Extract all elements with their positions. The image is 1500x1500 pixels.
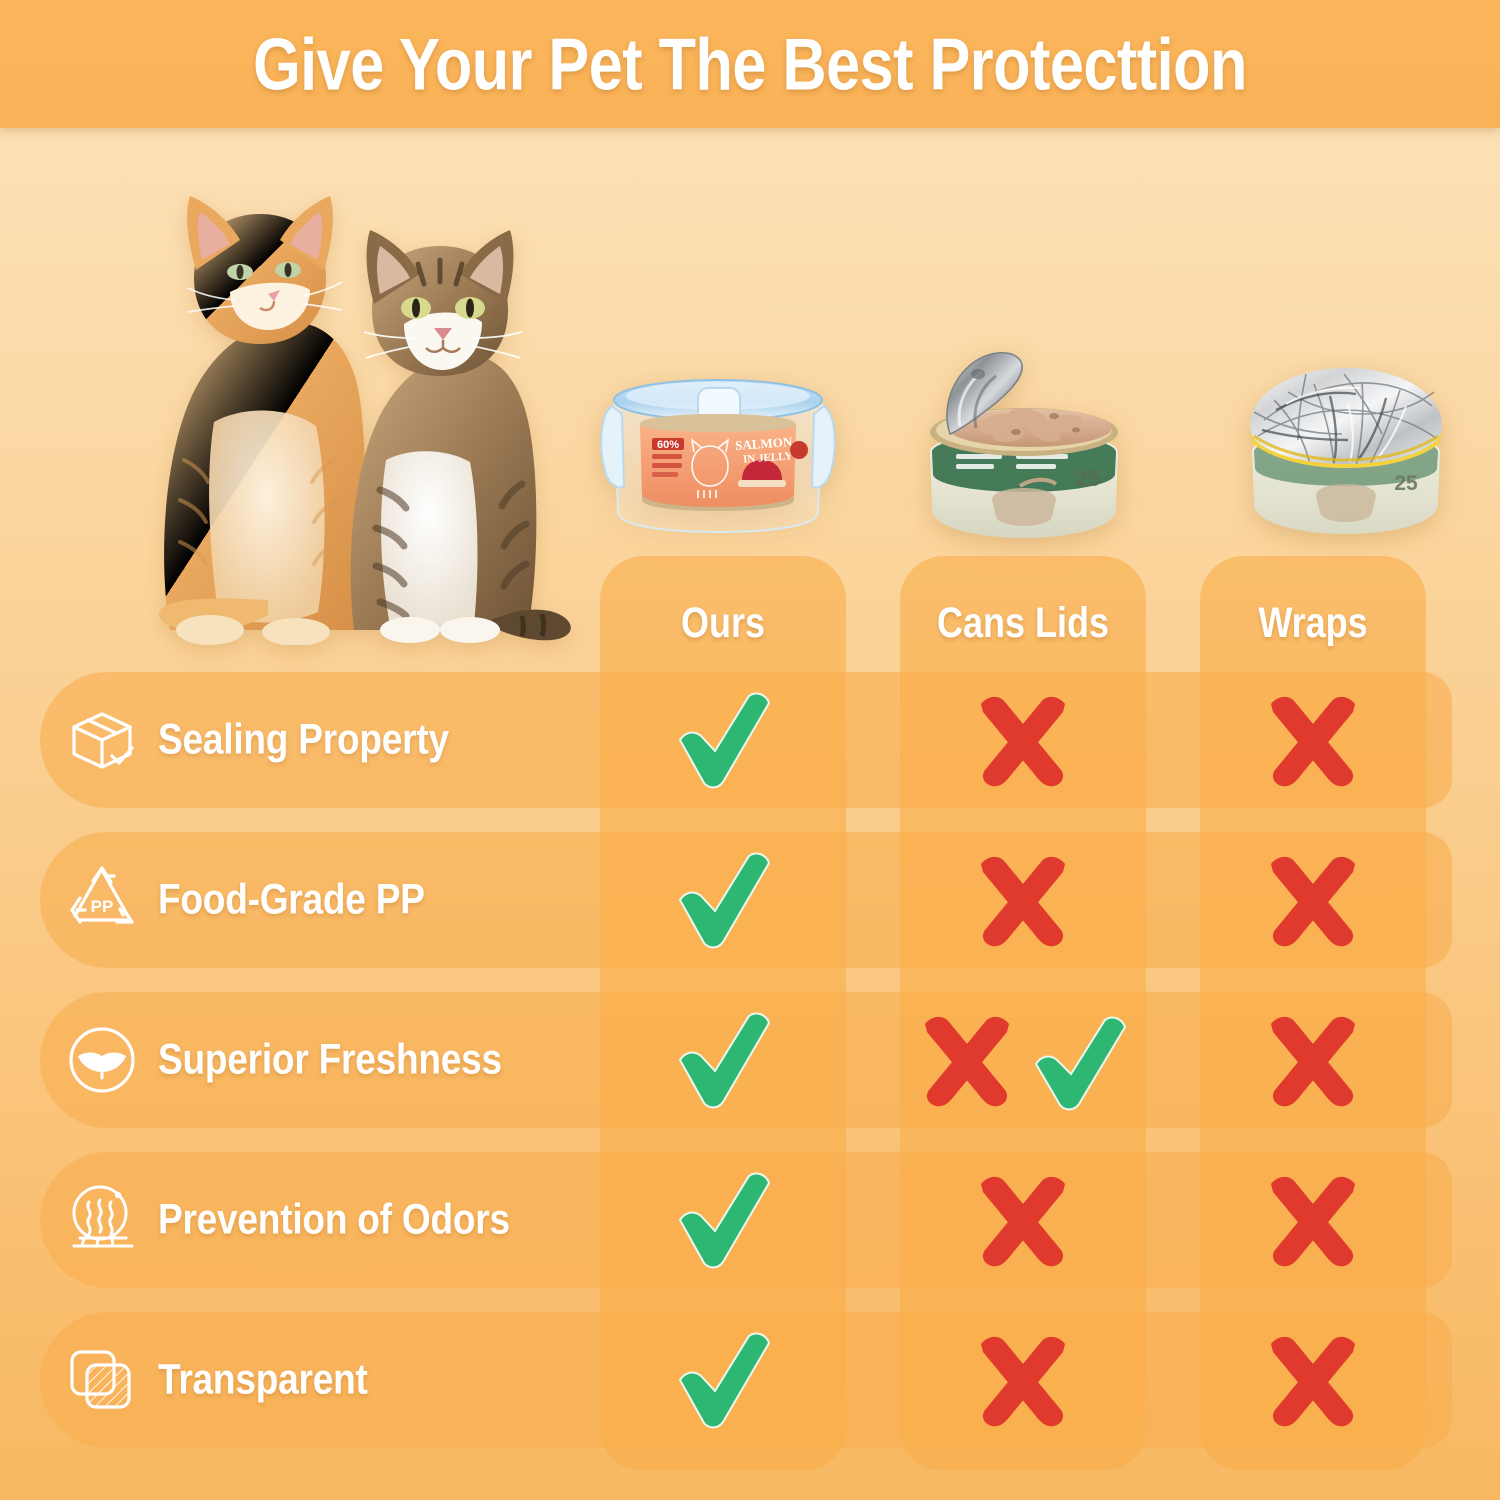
check-icon xyxy=(671,1328,775,1432)
cross-icon xyxy=(971,1168,1075,1272)
svg-text:PP: PP xyxy=(91,897,114,916)
cross-icon xyxy=(915,1008,1019,1112)
page-title: Give Your Pet The Best Protecttion xyxy=(0,0,1500,142)
cross-icon xyxy=(1261,848,1365,952)
feature-label: Food-Grade PP xyxy=(158,876,425,924)
column-header-ours: Ours xyxy=(600,586,846,659)
cross-icon xyxy=(971,848,1075,952)
cross-icon xyxy=(1261,1008,1365,1112)
product-photo-cans-lids: 25 xyxy=(916,340,1132,552)
check-icon xyxy=(1027,1008,1131,1112)
check-icon xyxy=(671,848,775,952)
infographic-canvas: Give Your Pet The Best Protecttion xyxy=(0,0,1500,1500)
cross-icon xyxy=(1261,1328,1365,1432)
cross-icon xyxy=(971,688,1075,792)
feature-row: Prevention of Odors xyxy=(40,1152,600,1288)
check-icon xyxy=(671,1008,775,1112)
feature-label: Sealing Property xyxy=(158,716,449,764)
cross-icon xyxy=(1261,688,1365,792)
svg-text:25: 25 xyxy=(1076,466,1100,491)
feature-row: Transparent xyxy=(40,1312,600,1448)
recycle-pp-icon: PP xyxy=(62,860,142,940)
cross-and-check-pair xyxy=(908,1008,1138,1112)
product-photo-ours: 60% SALMON IN JELLY xyxy=(592,362,844,558)
box-check-icon xyxy=(62,700,142,780)
odor-waves-icon xyxy=(62,1180,142,1260)
feature-row: Superior Freshness xyxy=(40,992,600,1128)
svg-text:25: 25 xyxy=(1394,472,1418,495)
feature-row: PP Food-Grade PP xyxy=(40,832,600,968)
feature-row: Sealing Property xyxy=(40,672,600,808)
check-icon xyxy=(671,1168,775,1272)
feature-label: Superior Freshness xyxy=(158,1036,502,1084)
product-photo-wraps: 25 xyxy=(1240,344,1452,544)
two-cats-photo xyxy=(118,160,578,645)
feature-label: Transparent xyxy=(158,1356,368,1404)
cross-icon xyxy=(971,1328,1075,1432)
leaf-circle-icon xyxy=(62,1020,142,1100)
check-icon xyxy=(671,688,775,792)
column-header-cans-lids: Cans Lids xyxy=(900,586,1146,659)
transparent-icon xyxy=(62,1340,142,1420)
svg-text:60%: 60% xyxy=(657,439,679,451)
cross-icon xyxy=(1261,1168,1365,1272)
feature-label: Prevention of Odors xyxy=(158,1196,510,1244)
column-header-wraps: Wraps xyxy=(1200,586,1426,659)
